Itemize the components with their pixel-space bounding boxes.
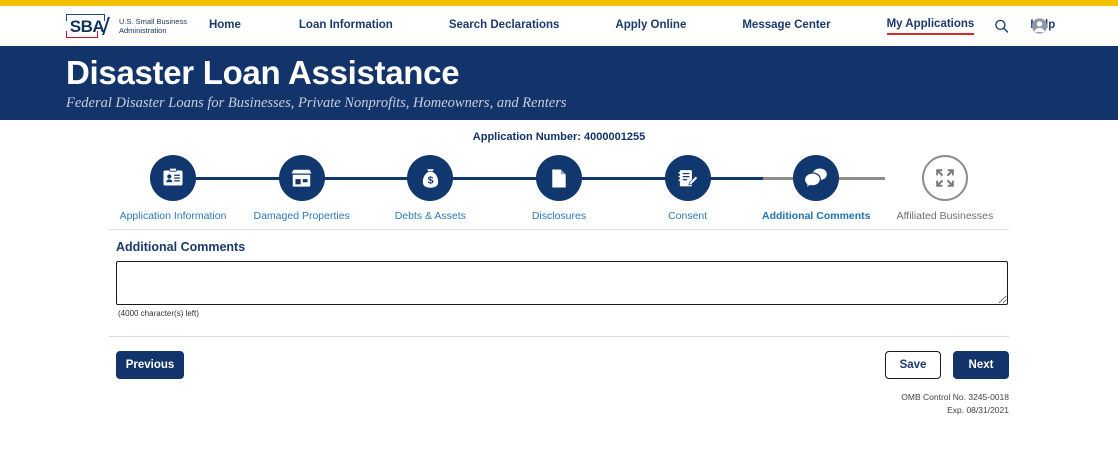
stepper-items: Application Information Damaged Properti…: [109, 155, 1009, 222]
logo-agency-line2: Administration: [119, 26, 187, 35]
compress-arrows-icon: [934, 167, 956, 189]
step-application-information[interactable]: Application Information: [109, 155, 237, 222]
omb-expiration: Exp. 08/31/2021: [109, 404, 1009, 417]
nav-item-home[interactable]: Home: [209, 19, 241, 34]
user-account-icon[interactable]: [1031, 18, 1048, 35]
step-label-debts-assets[interactable]: Debts & Assets: [395, 210, 466, 222]
step-circle-damaged-properties[interactable]: [279, 155, 325, 201]
chat-bubbles-icon: [803, 165, 829, 191]
step-circle-consent[interactable]: [665, 155, 711, 201]
search-icon[interactable]: [994, 19, 1009, 34]
step-circle-disclosures[interactable]: [536, 155, 582, 201]
step-circle-debts-assets[interactable]: $: [407, 155, 453, 201]
page-footer: OMB Control No. 3245-0018 Exp. 08/31/202…: [109, 391, 1009, 417]
previous-button[interactable]: Previous: [116, 351, 184, 379]
step-damaged-properties[interactable]: Damaged Properties: [238, 155, 366, 222]
step-label-disclosures[interactable]: Disclosures: [532, 210, 586, 222]
right-action-buttons: Save Next: [885, 351, 1009, 379]
step-circle-application-information[interactable]: [150, 155, 196, 201]
document-icon: [547, 167, 570, 190]
step-label-additional-comments[interactable]: Additional Comments: [762, 210, 871, 222]
page-title: Disaster Loan Assistance: [66, 54, 1118, 92]
step-label-affiliated-businesses: Affiliated Businesses: [897, 210, 994, 222]
nav-item-loan-information[interactable]: Loan Information: [299, 19, 393, 34]
step-label-consent[interactable]: Consent: [668, 210, 707, 222]
characters-left-counter: (4000 character(s) left): [118, 309, 1009, 318]
application-number: Application Number: 4000001255: [0, 131, 1118, 143]
main-navigation: SBA U.S. Small Business Administration H…: [0, 6, 1118, 46]
nav-links: Home Loan Information Search Declaration…: [209, 18, 1111, 35]
logo-agency-name: U.S. Small Business Administration: [119, 17, 187, 36]
next-button[interactable]: Next: [953, 351, 1009, 379]
progress-stepper: Application Information Damaged Properti…: [109, 155, 1009, 229]
nav-item-message-center[interactable]: Message Center: [742, 19, 830, 34]
svg-text:$: $: [427, 174, 433, 186]
nav-item-my-applications[interactable]: My Applications: [887, 18, 975, 35]
logo-letters: SBA: [68, 18, 106, 35]
step-consent[interactable]: Consent: [624, 155, 752, 222]
sba-logo-mark: SBA: [62, 12, 112, 40]
save-button[interactable]: Save: [885, 351, 941, 379]
omb-control-number: OMB Control No. 3245-0018: [109, 391, 1009, 404]
page-subtitle: Federal Disaster Loans for Businesses, P…: [66, 95, 1118, 112]
step-circle-affiliated-businesses: [922, 155, 968, 201]
step-circle-additional-comments[interactable]: [793, 155, 839, 201]
step-label-application-information[interactable]: Application Information: [120, 210, 227, 222]
sba-logo[interactable]: SBA U.S. Small Business Administration: [62, 12, 187, 40]
additional-comments-textarea[interactable]: [116, 261, 1008, 305]
form-actions: Previous Save Next: [109, 336, 1009, 379]
nav-item-search-declarations[interactable]: Search Declarations: [449, 19, 560, 34]
money-bag-icon: $: [419, 167, 442, 190]
step-debts-assets[interactable]: $ Debts & Assets: [366, 155, 494, 222]
step-additional-comments[interactable]: Additional Comments: [752, 155, 880, 222]
step-affiliated-businesses: Affiliated Businesses: [881, 155, 1009, 222]
form-section: Additional Comments (4000 character(s) l…: [109, 229, 1009, 318]
notepad-pencil-icon: [676, 167, 699, 190]
id-card-icon: [161, 166, 185, 190]
logo-agency-line1: U.S. Small Business: [119, 17, 187, 26]
nav-item-apply-online[interactable]: Apply Online: [615, 19, 686, 34]
step-disclosures[interactable]: Disclosures: [495, 155, 623, 222]
step-label-damaged-properties[interactable]: Damaged Properties: [254, 210, 350, 222]
additional-comments-label: Additional Comments: [116, 240, 1009, 254]
page-hero-banner: Disaster Loan Assistance Federal Disaste…: [0, 46, 1118, 120]
storefront-icon: [289, 166, 314, 191]
nav-utility-icons: [994, 18, 1048, 35]
